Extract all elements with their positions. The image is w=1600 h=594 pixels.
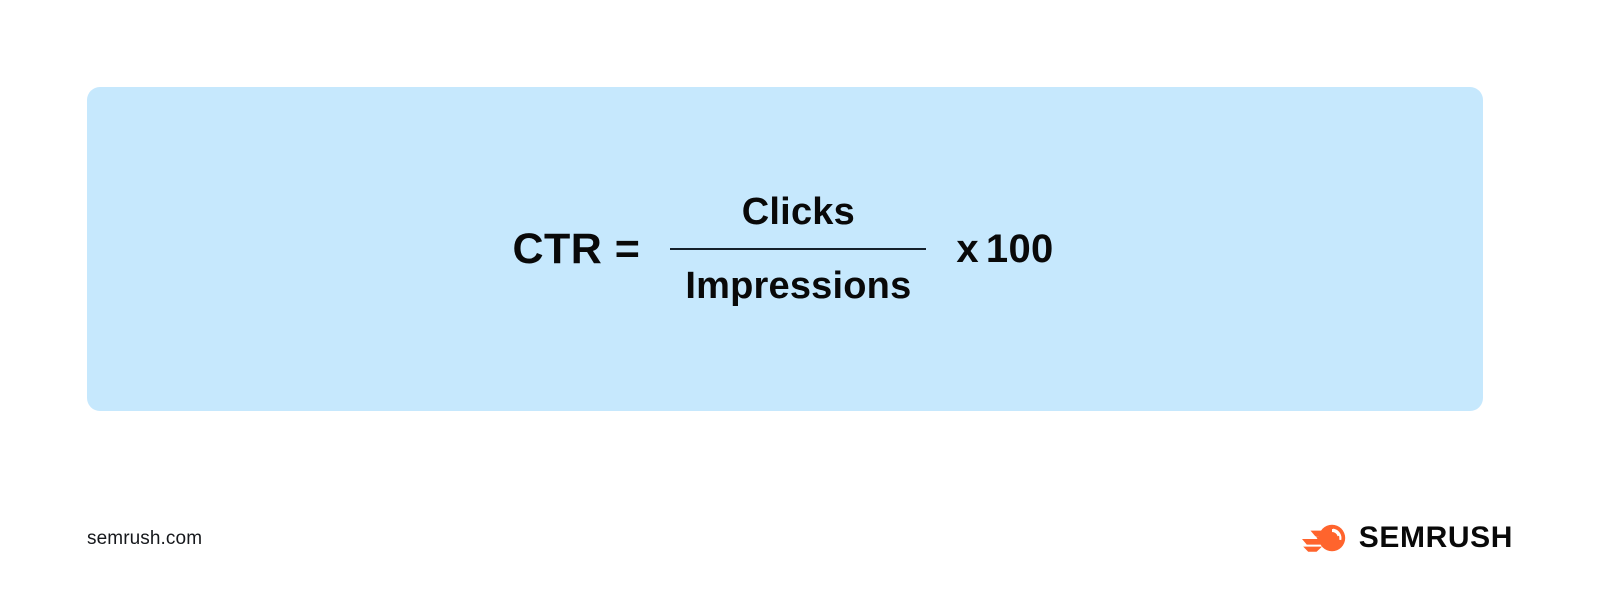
fraction-bar	[670, 248, 926, 250]
site-url-label: semrush.com	[87, 529, 202, 548]
semrush-comet-icon	[1302, 520, 1348, 556]
semrush-logo: SEMRUSH	[1302, 520, 1513, 556]
formula-fraction: Clicks Impressions	[670, 193, 926, 305]
multiplier-value: 100	[986, 227, 1054, 271]
multiplier-symbol: x	[956, 227, 979, 271]
semrush-wordmark: SEMRUSH	[1359, 523, 1513, 553]
formula-panel: CTR = Clicks Impressions x100	[87, 87, 1483, 411]
fraction-numerator: Clicks	[742, 193, 855, 231]
formula-left-side: CTR =	[512, 228, 640, 271]
formula-multiplier: x100	[956, 229, 1053, 269]
footer: semrush.com SEMRUSH	[87, 508, 1513, 568]
ctr-formula: CTR = Clicks Impressions x100	[512, 193, 1053, 305]
fraction-denominator: Impressions	[685, 267, 911, 305]
